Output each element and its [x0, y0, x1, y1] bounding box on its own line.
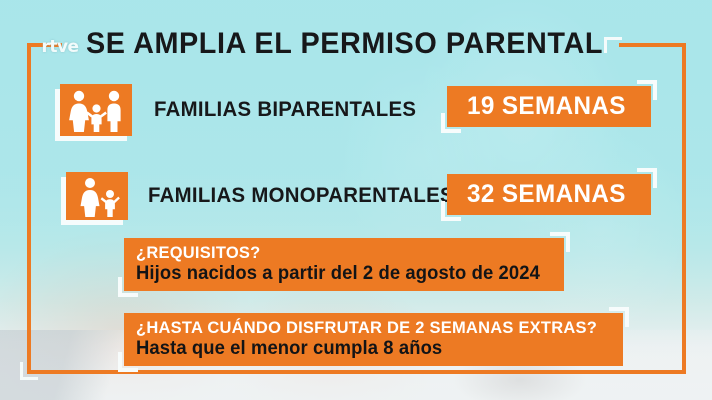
badge-accent-top-right-vertical	[653, 168, 657, 188]
badge-value: 32 SEMANAS	[467, 181, 626, 207]
info-box: ¿HASTA CUÁNDO DISFRUTAR DE 2 SEMANAS EXT…	[124, 313, 623, 366]
info-box: ¿REQUISITOS? Hijos nacidos a partir del …	[124, 238, 564, 291]
badge-accent-top-right-vertical	[653, 80, 657, 100]
badge-box: 32 SEMANAS	[447, 174, 651, 215]
one-parent-family-icon	[66, 172, 128, 220]
info-answer: Hasta que el menor cumpla 8 años	[136, 338, 597, 360]
badge-box: 19 SEMANAS	[447, 86, 651, 127]
frame-top-right-stub	[619, 43, 686, 47]
rtve-logo-text: rtve	[41, 39, 78, 56]
family-row-label: FAMILIAS MONOPARENTALES	[148, 184, 454, 208]
info-accent-top-right-vertical	[566, 232, 570, 252]
frame-accent-bottom-left-vertical	[20, 362, 23, 380]
badge-accent-bottom-left-vertical	[441, 113, 445, 133]
badge-accent-bottom-left-vertical	[441, 201, 445, 221]
info-accent-bottom-left-vertical	[118, 352, 122, 372]
info-accent-top-right-vertical	[625, 307, 629, 327]
broadcast-graphic: rtve SE AMPLIA EL PERMISO PARENTAL FAMIL	[0, 0, 712, 400]
info-accent-bottom-left-vertical	[118, 277, 122, 297]
info-answer: Hijos nacidos a partir del 2 de agosto d…	[136, 263, 540, 285]
info-block-requisitos: ¿REQUISITOS? Hijos nacidos a partir del …	[124, 238, 564, 291]
frame-right-edge	[682, 43, 686, 374]
info-question: ¿REQUISITOS?	[136, 243, 540, 263]
family-row-label: FAMILIAS BIPARENTALES	[154, 98, 416, 122]
info-question: ¿HASTA CUÁNDO DISFRUTAR DE 2 SEMANAS EXT…	[136, 318, 597, 338]
info-block-duracion: ¿HASTA CUÁNDO DISFRUTAR DE 2 SEMANAS EXT…	[124, 313, 623, 366]
two-parent-family-icon	[60, 84, 132, 136]
frame-left-edge	[27, 43, 31, 374]
family-row-monoparentales: FAMILIAS MONOPARENTALES	[66, 172, 463, 220]
badge-biparentales: 19 SEMANAS	[447, 86, 651, 127]
page-title: SE AMPLIA EL PERMISO PARENTAL	[86, 26, 606, 62]
page-title-text: SE AMPLIA EL PERMISO PARENTAL	[86, 27, 603, 61]
family-row-biparentales: FAMILIAS BIPARENTALES	[60, 84, 424, 136]
badge-monoparentales: 32 SEMANAS	[447, 174, 651, 215]
rtve-logo: rtve	[33, 36, 87, 58]
badge-value: 19 SEMANAS	[467, 93, 626, 119]
